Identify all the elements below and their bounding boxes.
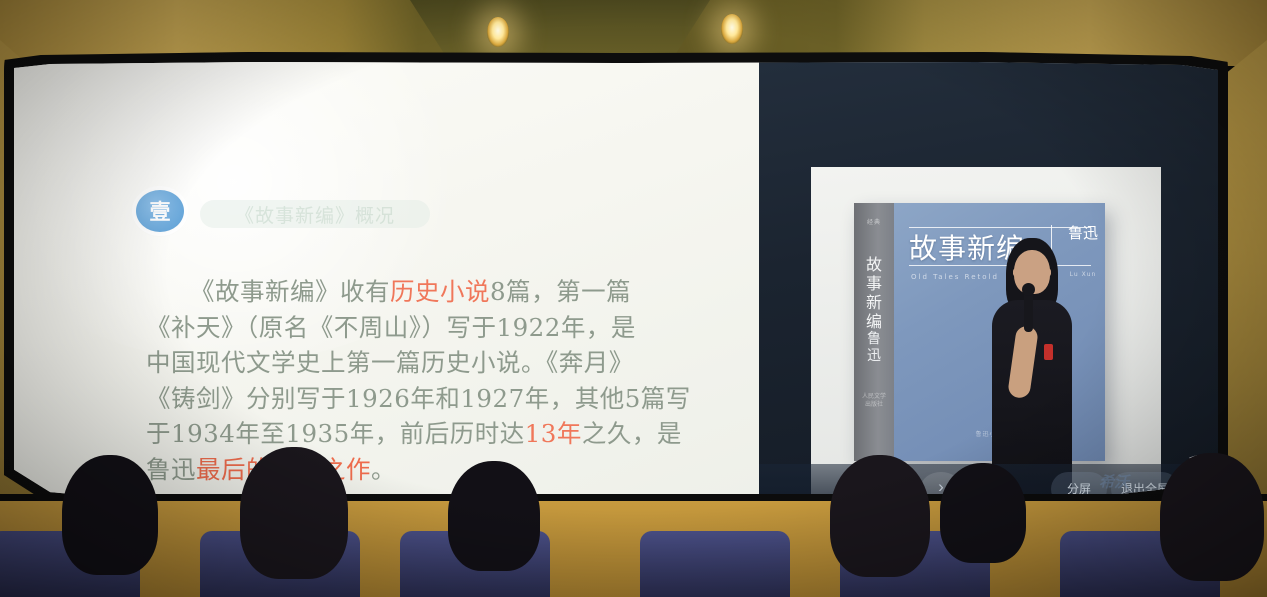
audience-head: [62, 455, 158, 575]
spine-publisher: 人民文学出版社: [862, 393, 886, 409]
audience-seating: [0, 525, 1267, 597]
text-segment: 。: [371, 455, 396, 484]
spine-title: 故事新编: [863, 255, 885, 331]
spine-author: 鲁迅: [863, 331, 885, 365]
text-segment: 之久，是: [582, 419, 682, 448]
text-segment: 《补天》（原名《不周山》）写于1922年，是: [146, 313, 636, 342]
slide-section-title: 《故事新编》概况: [200, 200, 430, 228]
text-segment: 《故事新编》收有: [190, 277, 390, 306]
spine-top-label: 经典: [860, 217, 888, 226]
text-segment: 于1934年至1935年，前后历时达: [146, 419, 525, 448]
lecture-hall-scene: 壹 《故事新编》概况 《故事新编》收有历史小说8篇，第一篇 《补天》（原名《不周…: [0, 0, 1267, 597]
ceiling-light-icon: [487, 17, 509, 47]
section-number-badge: 壹: [136, 190, 184, 232]
audience-head: [830, 455, 930, 577]
presenter-badge: [1044, 344, 1053, 360]
audience-head: [240, 447, 348, 579]
text-segment: 《铸剑》分别写于1926年和1927年，其他5篇写: [146, 384, 691, 413]
highlight-segment: 历史小说: [390, 277, 490, 306]
audience-head: [1160, 453, 1264, 581]
text-segment: 8篇，第一篇: [490, 277, 631, 306]
software-watermark: 希沃: [1099, 471, 1129, 492]
ceiling-light-icon: [721, 14, 743, 44]
seat: [640, 531, 790, 597]
slide-body-text: 《故事新编》收有历史小说8篇，第一篇 《补天》（原名《不周山》）写于1922年，…: [146, 274, 718, 487]
text-segment: 鲁迅: [146, 455, 196, 484]
audience-head: [940, 463, 1026, 563]
highlight-segment: 13年: [525, 419, 582, 448]
presentation-slide[interactable]: 壹 《故事新编》概况 《故事新编》收有历史小说8篇，第一篇 《补天》（原名《不周…: [14, 62, 759, 510]
audience-head: [448, 461, 540, 571]
microphone-icon: [1024, 290, 1033, 332]
slide-right-pane: 经典 故事新编 鲁迅 人民文学出版社 故事新编 鲁迅 Lu Xun Old Ta…: [759, 62, 1218, 510]
book-spine: 经典 故事新编 鲁迅 人民文学出版社: [854, 203, 894, 461]
text-segment: 中国现代文学史上第一篇历史小说。《奔月》: [146, 348, 634, 377]
projection-screen: 壹 《故事新编》概况 《故事新编》收有历史小说8篇，第一篇 《补天》（原名《不周…: [14, 62, 1218, 510]
